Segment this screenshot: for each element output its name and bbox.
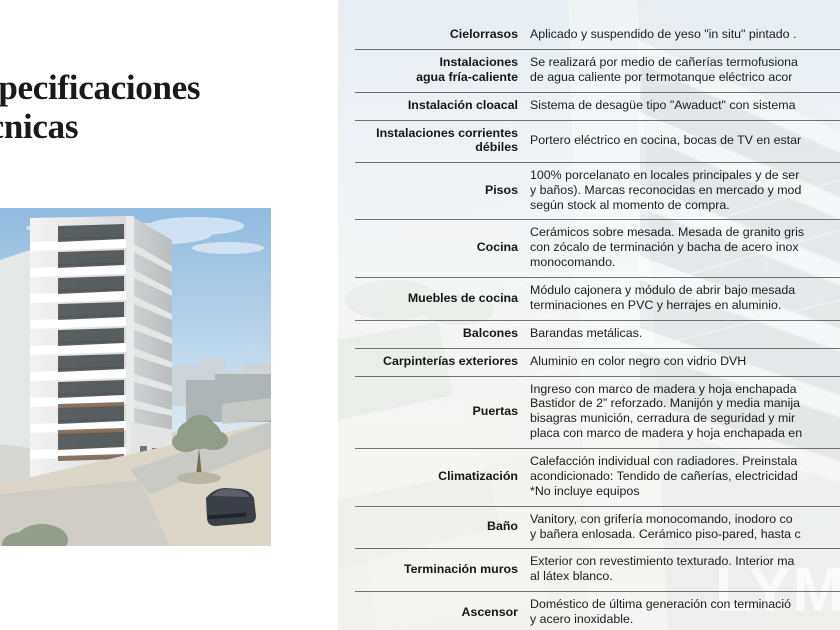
spec-value: Aluminio en color negro con vidrio DVH (530, 354, 840, 369)
spec-row: Climatización Calefacción individual con… (338, 448, 840, 506)
left-panel: Especificaciones técnicas (0, 0, 338, 630)
spec-row: Cielorrasos Aplicado y suspendido de yes… (338, 21, 840, 49)
spec-label: Instalaciones agua fría-caliente (338, 55, 530, 84)
spec-value: Barandas metálicas. (530, 326, 840, 341)
spec-value: Aplicado y suspendido de yeso "in situ" … (530, 27, 840, 42)
spec-row: Baño Vanitory, con grifería monocomando,… (338, 506, 840, 549)
specifications-table: Cielorrasos Aplicado y suspendido de yes… (338, 0, 840, 630)
spec-label: Pisos (338, 183, 530, 198)
spec-value: 100% porcelanato en locales principales … (530, 168, 840, 213)
spec-label: Cielorrasos (338, 27, 530, 42)
spec-label: Cocina (338, 240, 530, 255)
spec-value: Calefacción individual con radiadores. P… (530, 454, 840, 499)
spec-value: Módulo cajonera y módulo de abrir bajo m… (530, 283, 840, 313)
spec-value: Ingreso con marco de madera y hoja encha… (530, 382, 840, 442)
spec-value: Portero eléctrico en cocina, bocas de TV… (530, 133, 840, 148)
spec-row: Balcones Barandas metálicas. (338, 320, 840, 348)
spec-value: Vanitory, con grifería monocomando, inod… (530, 512, 840, 542)
spec-row: Instalaciones agua fría-caliente Se real… (338, 49, 840, 92)
spec-row: Terminación muros Exterior con revestimi… (338, 548, 840, 591)
page-title: Especificaciones técnicas (0, 68, 292, 146)
building-render-photo (0, 208, 271, 546)
spec-label: Balcones (338, 326, 530, 341)
building-render-illustration (0, 208, 271, 546)
spec-value: Sistema de desagüe tipo "Awaduct" con si… (530, 98, 840, 113)
specifications-panel: LYM Cielorrasos Aplicado y suspendido de… (338, 0, 840, 630)
spec-row: Pisos 100% porcelanato en locales princi… (338, 162, 840, 220)
spec-value: Doméstico de última generación con termi… (530, 597, 840, 627)
spec-row: Cocina Cerámicos sobre mesada. Mesada de… (338, 219, 840, 277)
spec-label: Terminación muros (338, 562, 530, 577)
spec-label: Muebles de cocina (338, 291, 530, 306)
spec-row: Ascensor Doméstico de última generación … (338, 591, 840, 630)
spec-label: Ascensor (338, 605, 530, 620)
spec-value: Exterior con revestimiento texturado. In… (530, 554, 840, 584)
spec-value: Cerámicos sobre mesada. Mesada de granit… (530, 225, 840, 270)
spec-label: Puertas (338, 404, 530, 419)
spec-label: Climatización (338, 469, 530, 484)
spec-label: Baño (338, 519, 530, 534)
spec-row: Puertas Ingreso con marco de madera y ho… (338, 376, 840, 449)
spec-row: Instalación cloacal Sistema de desagüe t… (338, 92, 840, 120)
spec-row: Muebles de cocina Módulo cajonera y módu… (338, 277, 840, 320)
spec-row: Instalaciones corrientes débiles Portero… (338, 120, 840, 162)
spec-label: Carpinterías exteriores (338, 354, 530, 369)
spec-value: Se realizará por medio de cañerías termo… (530, 55, 840, 85)
spec-row: Carpinterías exteriores Aluminio en colo… (338, 348, 840, 376)
spec-label: Instalaciones corrientes débiles (338, 126, 530, 155)
spec-label: Instalación cloacal (338, 98, 530, 113)
